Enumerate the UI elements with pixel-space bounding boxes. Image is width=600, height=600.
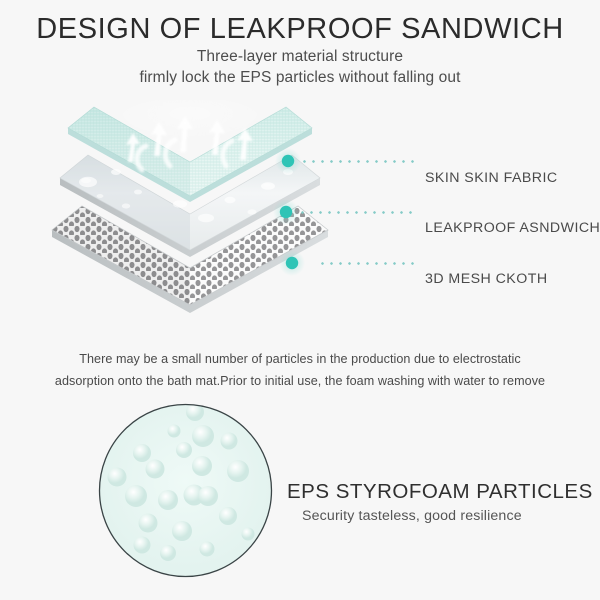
leader-line-3d-mesh: [318, 262, 418, 265]
teal-dot-icon-leakproof: [273, 199, 299, 225]
infographic-page: DESIGN OF LEAKPROOF SANDWICH Three-layer…: [0, 0, 600, 600]
teal-dot-icon-skin: [275, 148, 301, 174]
layer-label-3d-mesh: 3D MESH CKOTH: [425, 271, 548, 287]
notice-line-1: There may be a small number of particles…: [0, 352, 600, 366]
leader-line-skin-fabric: [300, 160, 418, 163]
exploded-layer-diagram: [30, 100, 350, 345]
airflow-arrows-icon: [112, 100, 268, 170]
eps-subtitle: Security tasteless, good resilience: [302, 508, 522, 524]
subtitle-line-2: firmly lock the EPS particles without fa…: [0, 69, 600, 87]
layer-label-skin-fabric: SKIN SKIN FABRIC: [425, 170, 558, 186]
eps-particles-illustration: [98, 403, 273, 578]
page-title: DESIGN OF LEAKPROOF SANDWICH: [0, 13, 600, 46]
layer-label-leakproof: LEAKPROOF ASNDWICH: [425, 220, 600, 236]
eps-title: EPS STYROFOAM PARTICLES: [287, 480, 593, 504]
subtitle-line-1: Three-layer material structure: [0, 48, 600, 66]
teal-dot-icon-mesh: [279, 250, 305, 276]
notice-line-2: adsorption onto the bath mat.Prior to in…: [0, 374, 600, 388]
leader-line-leakproof: [298, 211, 418, 214]
